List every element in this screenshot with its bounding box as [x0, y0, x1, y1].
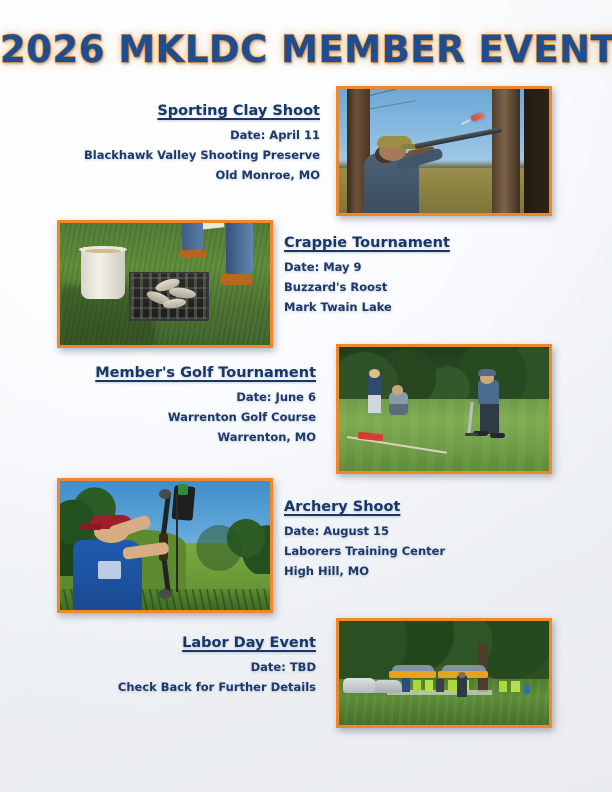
- photo-scene-crappie: [60, 223, 270, 345]
- event-title: Member's Golf Tournament: [20, 362, 316, 384]
- event-block-archery-shoot: Archery Shoot Date: August 15 Laborers T…: [284, 496, 534, 581]
- event-note: Check Back for Further Details: [20, 677, 316, 697]
- event-date: Date: TBD: [20, 657, 316, 677]
- flyer-page: 2026 MKLDC MEMBER EVENTS Sporting Clay S…: [0, 0, 612, 792]
- event-venue: Blackhawk Valley Shooting Preserve: [20, 145, 320, 165]
- event-date: Date: April 11: [20, 125, 320, 145]
- event-location: Mark Twain Lake: [284, 297, 534, 317]
- event-location: High Hill, MO: [284, 561, 534, 581]
- event-photo-archery-shoot: [57, 478, 273, 613]
- event-title: Archery Shoot: [284, 496, 534, 518]
- photo-scene-clay-shoot: [339, 89, 549, 213]
- event-venue: Laborers Training Center: [284, 541, 534, 561]
- photo-scene-labor-day: [339, 621, 549, 725]
- event-block-crappie-tournament: Crappie Tournament Date: May 9 Buzzard's…: [284, 232, 534, 317]
- event-venue: Buzzard's Roost: [284, 277, 534, 297]
- event-venue: Warrenton Golf Course: [20, 407, 316, 427]
- event-location: Warrenton, MO: [20, 427, 316, 447]
- event-photo-sporting-clay-shoot: [336, 86, 552, 216]
- event-date: Date: August 15: [284, 521, 534, 541]
- photo-scene-archery: [60, 481, 270, 610]
- event-photo-crappie-tournament: [57, 220, 273, 348]
- event-title: Sporting Clay Shoot: [20, 100, 320, 122]
- page-title-text: 2026 MKLDC MEMBER EVENTS: [0, 28, 612, 71]
- event-block-labor-day-event: Labor Day Event Date: TBD Check Back for…: [20, 632, 316, 697]
- event-photo-labor-day-event: [336, 618, 552, 728]
- event-title: Crappie Tournament: [284, 232, 534, 254]
- event-block-sporting-clay-shoot: Sporting Clay Shoot Date: April 11 Black…: [20, 100, 320, 185]
- event-title: Labor Day Event: [20, 632, 316, 654]
- event-photo-members-golf-tournament: [336, 344, 552, 474]
- event-date: Date: May 9: [284, 257, 534, 277]
- photo-scene-golf: [339, 347, 549, 471]
- event-date: Date: June 6: [20, 387, 316, 407]
- event-location: Old Monroe, MO: [20, 165, 320, 185]
- event-block-members-golf-tournament: Member's Golf Tournament Date: June 6 Wa…: [20, 362, 316, 447]
- page-title: 2026 MKLDC MEMBER EVENTS: [0, 28, 612, 71]
